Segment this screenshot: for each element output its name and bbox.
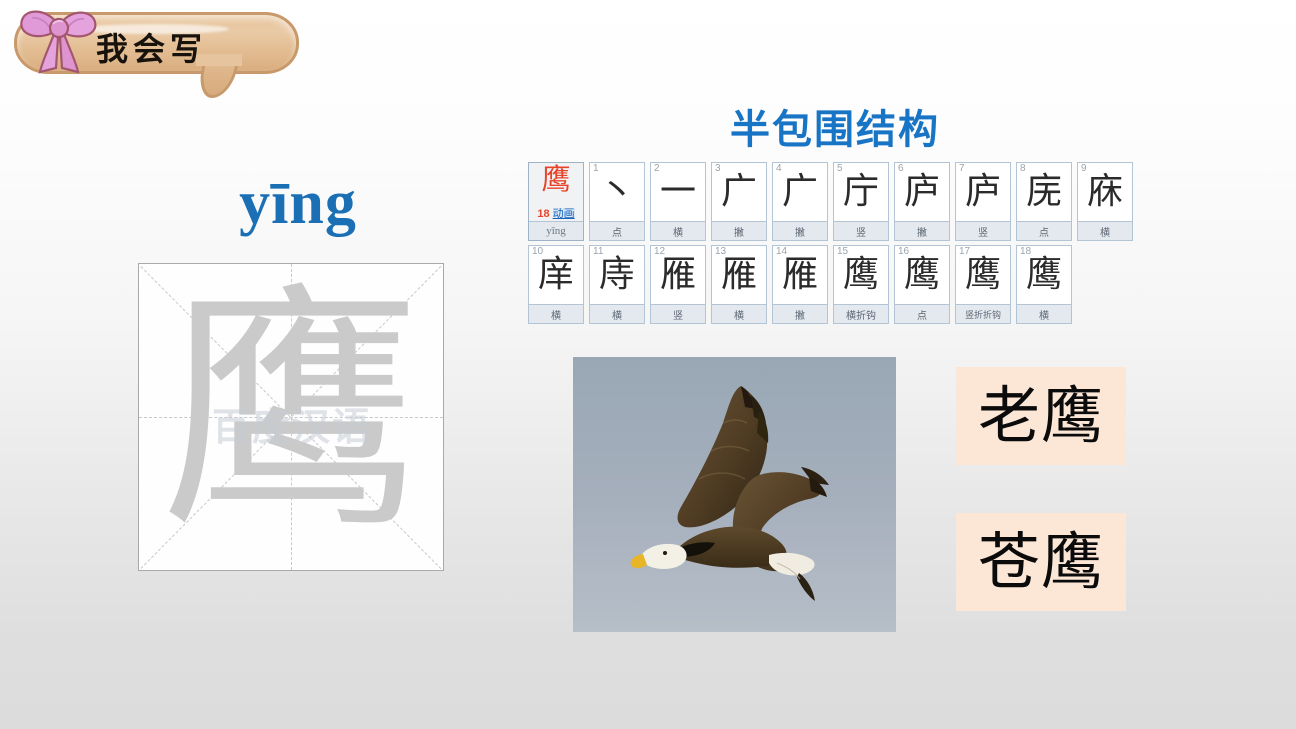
stroke-name-label: 竖折折钩	[956, 304, 1010, 323]
stroke-name-label: 点	[895, 304, 949, 323]
stroke-number: 5	[837, 164, 843, 174]
stroke-number: 8	[1020, 164, 1026, 174]
stroke-cell-11[interactable]: 11庤横	[589, 245, 645, 324]
structure-title: 半包围结构	[660, 97, 1010, 155]
page-title: 我会写	[96, 24, 207, 70]
stroke-number: 3	[715, 164, 721, 174]
stroke-art-9: 9庥	[1078, 163, 1132, 221]
header-banner: 我会写	[8, 6, 303, 96]
stroke-name-label: 竖	[651, 304, 705, 323]
stroke-cell-4[interactable]: 4广撇	[772, 162, 828, 241]
stroke-number: 18	[1020, 247, 1031, 257]
eagle-illustration	[573, 357, 896, 632]
stroke-name-label: 横	[712, 304, 766, 323]
stroke-cell-15[interactable]: 15鹰横折钩	[833, 245, 889, 324]
stroke-art-10: 10庠	[529, 246, 583, 304]
stroke-cell-18[interactable]: 18鹰横	[1016, 245, 1072, 324]
stroke-number: 15	[837, 247, 848, 257]
stroke-art-13: 13雁	[712, 246, 766, 304]
stroke-name-label: 撇	[773, 304, 827, 323]
stroke-name-label: 横	[529, 304, 583, 323]
ribbon-bow-icon	[16, 6, 102, 80]
stroke-number: 12	[654, 247, 665, 257]
stroke-art-3: 3广	[712, 163, 766, 221]
stroke-order-row-2: 10庠横11庤横12雁竖13雁横14雁撇15鹰横折钩16鹰点17鹰竖折折钩18鹰…	[528, 245, 1142, 324]
summary-character-glyph: 鹰	[529, 164, 583, 194]
stroke-number: 9	[1081, 164, 1087, 174]
stroke-number: 4	[776, 164, 782, 174]
stroke-number: 2	[654, 164, 660, 174]
stroke-art-11: 11庤	[590, 246, 644, 304]
stroke-art-1: 1丶	[590, 163, 644, 221]
stroke-cell-10[interactable]: 10庠横	[528, 245, 584, 324]
word-box-2: 苍鹰	[956, 513, 1126, 611]
stroke-name-label: 横	[590, 304, 644, 323]
stroke-number: 6	[898, 164, 904, 174]
stroke-cell-2[interactable]: 2一横	[650, 162, 706, 241]
word-box-1: 老鹰	[956, 367, 1126, 465]
stroke-art-7: 7庐	[956, 163, 1010, 221]
pinyin-label: yīng	[203, 168, 393, 239]
summary-meta: 18 动画	[529, 208, 583, 220]
stroke-order-table: 鹰 18 动画 yīng 1丶点2一横3广撇4广撇5庁竖6庐撇7庐竖8庑点9庥横…	[528, 162, 1142, 328]
stroke-name-label: 横折钩	[834, 304, 888, 323]
stroke-number: 14	[776, 247, 787, 257]
stroke-name-label: 竖	[956, 221, 1010, 240]
stroke-art-17: 17鹰	[956, 246, 1010, 304]
stroke-cell-7[interactable]: 7庐竖	[955, 162, 1011, 241]
stroke-cell-5[interactable]: 5庁竖	[833, 162, 889, 241]
grid-watermark: 百度汉语	[153, 396, 431, 451]
stroke-cell-16[interactable]: 16鹰点	[894, 245, 950, 324]
stroke-art-15: 15鹰	[834, 246, 888, 304]
stroke-summary-art: 鹰 18 动画	[529, 163, 583, 221]
stroke-cell-17[interactable]: 17鹰竖折折钩	[955, 245, 1011, 324]
stroke-count-badge: 18	[537, 209, 549, 220]
stroke-art-16: 16鹰	[895, 246, 949, 304]
stroke-number: 10	[532, 247, 543, 257]
stroke-cell-6[interactable]: 6庐撇	[894, 162, 950, 241]
stroke-cell-3[interactable]: 3广撇	[711, 162, 767, 241]
stroke-number: 7	[959, 164, 965, 174]
stroke-art-5: 5庁	[834, 163, 888, 221]
stroke-name-label: 竖	[834, 221, 888, 240]
stroke-art-8: 8庑	[1017, 163, 1071, 221]
stroke-summary-cell[interactable]: 鹰 18 动画 yīng	[528, 162, 584, 241]
stroke-number: 1	[593, 164, 599, 174]
animation-link[interactable]: 动画	[553, 208, 575, 219]
stroke-number: 11	[593, 247, 603, 257]
stroke-number: 16	[898, 247, 909, 257]
stroke-name-label: 横	[651, 221, 705, 240]
stroke-name-label: 撇	[773, 221, 827, 240]
stroke-name-label: 点	[1017, 221, 1071, 240]
character-practice-grid: 百度汉语 鹰	[138, 263, 444, 571]
stroke-cell-8[interactable]: 8庑点	[1016, 162, 1072, 241]
eagle-photo	[573, 357, 896, 632]
stroke-art-2: 2一	[651, 163, 705, 221]
stroke-cell-1[interactable]: 1丶点	[589, 162, 645, 241]
stroke-number: 17	[959, 247, 970, 257]
stroke-art-12: 12雁	[651, 246, 705, 304]
stroke-name-label: 横	[1017, 304, 1071, 323]
stroke-art-6: 6庐	[895, 163, 949, 221]
stroke-cell-13[interactable]: 13雁横	[711, 245, 767, 324]
stroke-name-label: 点	[590, 221, 644, 240]
stroke-name-label: 横	[1078, 221, 1132, 240]
stroke-art-4: 4广	[773, 163, 827, 221]
stroke-art-18: 18鹰	[1017, 246, 1071, 304]
stroke-name-label: 撇	[895, 221, 949, 240]
stroke-name-label: 撇	[712, 221, 766, 240]
stroke-cell-9[interactable]: 9庥横	[1077, 162, 1133, 241]
stroke-cell-14[interactable]: 14雁撇	[772, 245, 828, 324]
stroke-cell-12[interactable]: 12雁竖	[650, 245, 706, 324]
stroke-number: 13	[715, 247, 726, 257]
summary-pinyin-label: yīng	[529, 221, 583, 240]
stroke-art-14: 14雁	[773, 246, 827, 304]
stroke-order-row-1: 鹰 18 动画 yīng 1丶点2一横3广撇4广撇5庁竖6庐撇7庐竖8庑点9庥横	[528, 162, 1142, 241]
